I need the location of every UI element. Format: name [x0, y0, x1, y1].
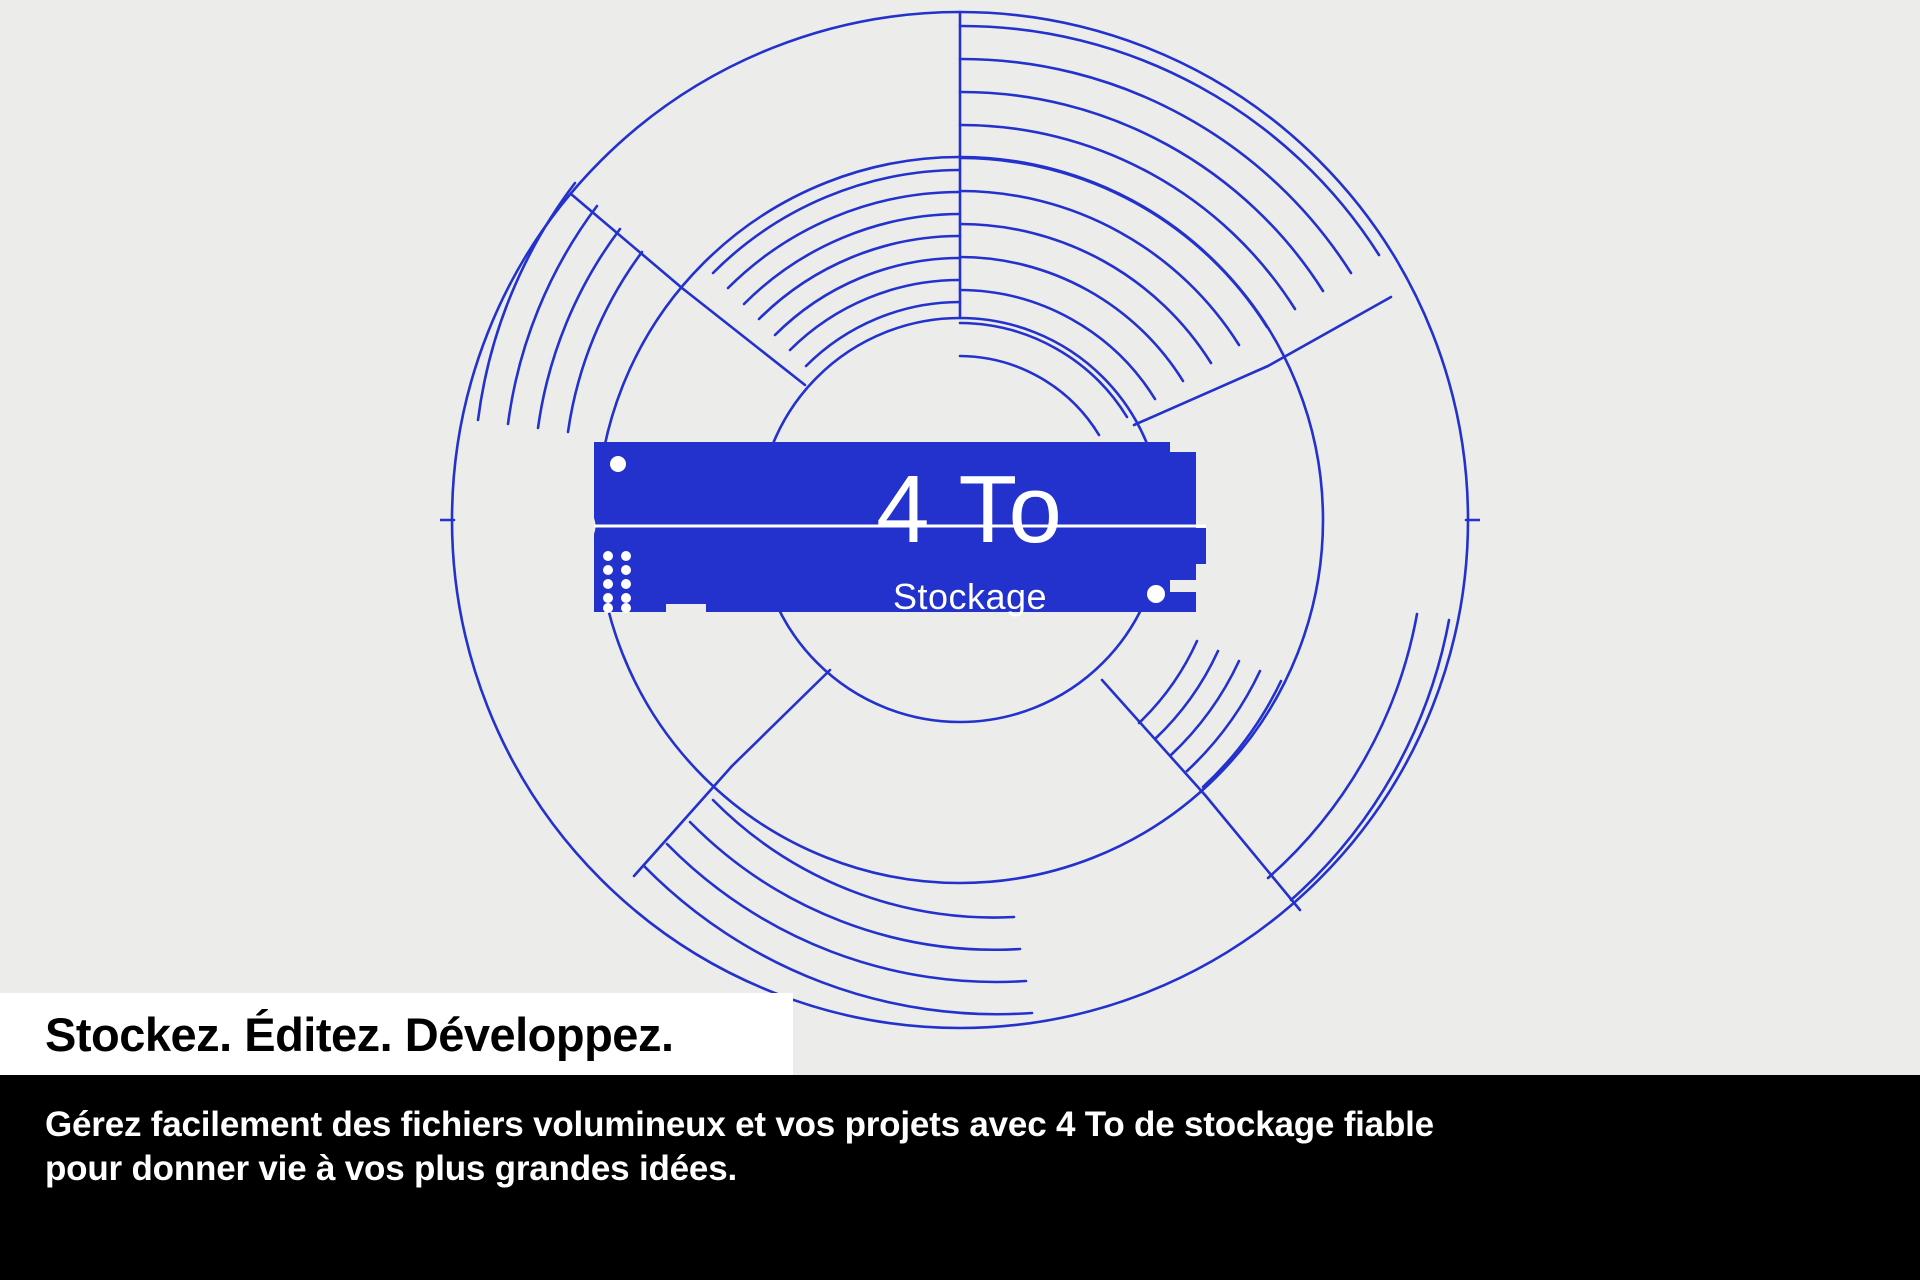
spoke-outer-ne — [1268, 297, 1391, 366]
hatch-outer-sw — [644, 800, 1032, 1014]
page-title: Stockez. Éditez. Développez. — [45, 1007, 674, 1062]
m2-ssd-svg — [580, 436, 1360, 656]
hatch-outer-ne — [960, 26, 1379, 435]
footer-band: Gérez facilement des fichiers volumineux… — [0, 1075, 1920, 1280]
hatch-mid-nw — [713, 170, 960, 366]
spoke-outer-se — [1205, 795, 1300, 910]
spoke-mid-nw — [682, 288, 805, 385]
hatch-outer-nw — [478, 183, 642, 432]
headline-band: Stockez. Éditez. Développez. — [0, 993, 793, 1075]
ssd-mount-hole-right — [1147, 585, 1165, 603]
body-copy: Gérez facilement des fichiers volumineux… — [45, 1103, 1465, 1191]
hatch-mid-se — [1139, 641, 1281, 787]
m2-ssd-module — [580, 436, 1360, 656]
hero-banner: 4 To Stockage Stockez. Éditez. Développe… — [0, 0, 1920, 1280]
spoke-mid-sw — [732, 670, 830, 766]
ssd-mount-hole-left — [610, 456, 626, 472]
